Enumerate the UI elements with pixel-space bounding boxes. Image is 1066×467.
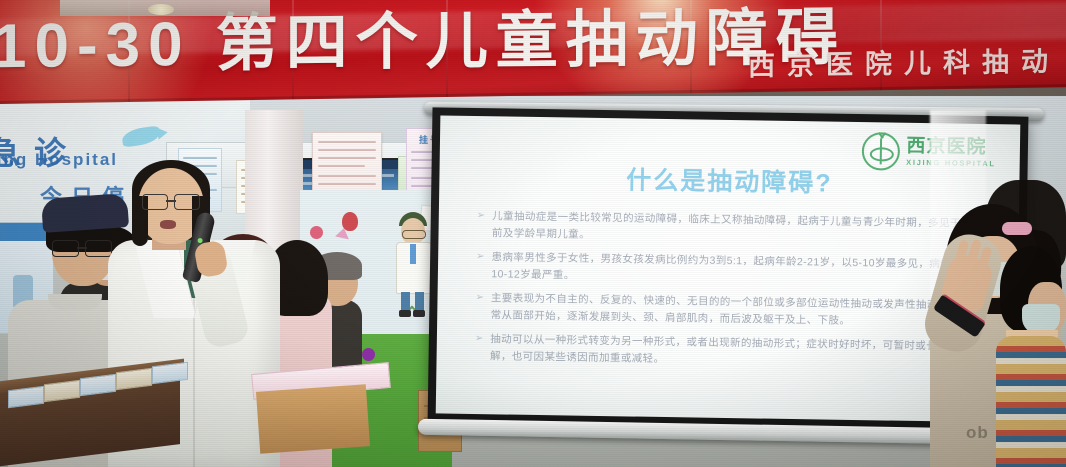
hair-scrunchie-icon: [1002, 222, 1032, 235]
slide-bullet-text: 患病率男性多于女性，男孩女孩发病比例约为3到5:1，起病年龄2-21岁，以5-1…: [491, 249, 988, 290]
chevron-right-icon: ➢: [476, 249, 485, 282]
slide-bullet-text: 儿童抽动症是一类比较常见的运动障碍，临床上又称抽动障碍，起病于儿童与青少年时期，…: [492, 208, 989, 249]
chevron-right-icon: ➢: [474, 331, 483, 364]
eyeglasses-icon: [52, 240, 112, 256]
emergency-sign-en: jing Hospital: [0, 150, 118, 170]
slide-bullet: ➢ 抽动可以从一种形式转变为另一种形式，或者出现新的抽动形式；症状时好时坏，可暂…: [474, 331, 986, 372]
jacket-logo-text: ob: [966, 423, 989, 443]
slide-bullet: ➢ 主要表现为不自主的、反复的、快速的、无目的的一个部位或多部位运动性抽动或发声…: [475, 290, 987, 331]
child-sweater: [996, 336, 1066, 467]
slide-body: ➢ 儿童抽动症是一类比较常见的运动障碍，临床上又称抽动障碍，起病于儿童与青少年时…: [474, 208, 989, 380]
slide-bullet: ➢ 儿童抽动症是一类比较常见的运动障碍，临床上又称抽动障碍，起病于儿童与青少年时…: [476, 208, 988, 249]
ceiling-light-icon: [148, 4, 174, 15]
mural-glasses-icon: [402, 230, 426, 239]
speaker-mouth: [160, 220, 176, 229]
slide-bullet-text: 主要表现为不自主的、反复的、快速的、无目的的一个部位或多部位运动性抽动或发声性抽…: [491, 290, 988, 331]
eyeglasses-icon: [142, 194, 200, 209]
chevron-right-icon: ➢: [476, 208, 485, 241]
audience-collar: [48, 294, 102, 310]
slide-bullet-text: 抽动可以从一种形式转变为另一种形式，或者出现新的抽动形式；症状时好时坏，可暂时或…: [490, 331, 987, 372]
slide-bullet: ➢ 患病率男性多于女性，男孩女孩发病比例约为3到5:1，起病年龄2-21岁，以5…: [476, 249, 988, 290]
exam-table-base: [256, 384, 370, 454]
chevron-right-icon: ➢: [475, 290, 484, 323]
foreground-child-patterned-sweater: [1000, 246, 1066, 467]
security-cap: [41, 193, 129, 233]
banner-subline: 西京医院儿科抽动: [748, 39, 1060, 83]
mural-cartoon-doctor: [392, 206, 434, 322]
photo-scene: 急诊 jing Hospital 今日停诊 章 挂号: [0, 0, 1066, 467]
